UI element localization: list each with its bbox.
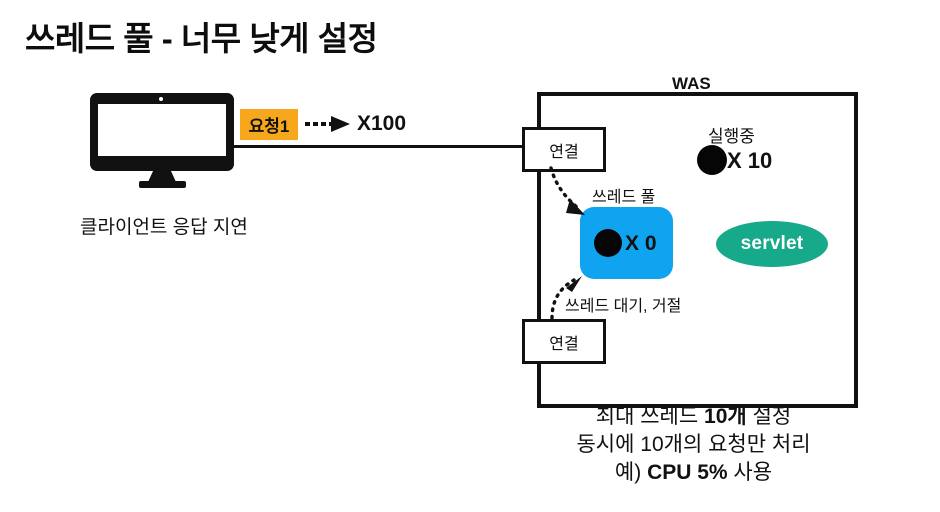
caption-line-1-prefix: 최대 쓰레드	[596, 405, 704, 428]
thread-pool-box: X 0	[580, 207, 673, 279]
caption-line-3-prefix: 예)	[615, 461, 647, 484]
caption-line-3-strong: CPU 5%	[647, 461, 728, 484]
thread-pool-count: X 0	[625, 232, 657, 256]
client-label: 클라이언트 응답 지연	[80, 212, 248, 239]
request-multiplier: X100	[357, 112, 406, 136]
caption-line-1-strong: 10개	[704, 405, 747, 428]
desktop-monitor-icon	[90, 93, 234, 187]
monitor-base	[139, 181, 186, 188]
page-title: 쓰레드 풀 - 너무 낮게 설정	[25, 12, 377, 60]
monitor-screen	[98, 104, 226, 156]
right-arrow-icon	[305, 114, 351, 134]
thread-pool-label: 쓰레드 풀	[592, 183, 655, 207]
running-threads-label: 실행중	[708, 122, 755, 147]
was-label: WAS	[672, 74, 711, 94]
caption-line-3: 예) CPU 5% 사용	[537, 459, 850, 487]
thread-waiting-label: 쓰레드 대기, 거절	[565, 292, 681, 316]
caption-block: 최대 쓰레드 10개 설정 동시에 10개의 요청만 처리 예) CPU 5% …	[537, 403, 850, 487]
caption-line-1-suffix: 설정	[747, 405, 791, 428]
caption-line-1: 최대 쓰레드 10개 설정	[537, 403, 850, 431]
caption-line-3-suffix: 사용	[728, 461, 772, 484]
monitor-camera-dot	[159, 97, 163, 101]
request-badge: 요청1	[240, 109, 298, 140]
running-thread-dot-icon	[697, 145, 727, 175]
slide-canvas: 쓰레드 풀 - 너무 낮게 설정 클라이언트 응답 지연 요청1 X100 WA…	[0, 0, 940, 512]
monitor-body	[90, 93, 234, 171]
servlet-ellipse: servlet	[716, 221, 828, 267]
caption-line-2: 동시에 10개의 요청만 처리	[537, 431, 850, 459]
client-was-connector-line	[233, 145, 525, 148]
connection-box-top: 연결	[522, 127, 606, 172]
thread-dot-icon	[594, 229, 622, 257]
connection-box-bottom: 연결	[522, 319, 606, 364]
running-threads-count: X 10	[727, 148, 772, 174]
